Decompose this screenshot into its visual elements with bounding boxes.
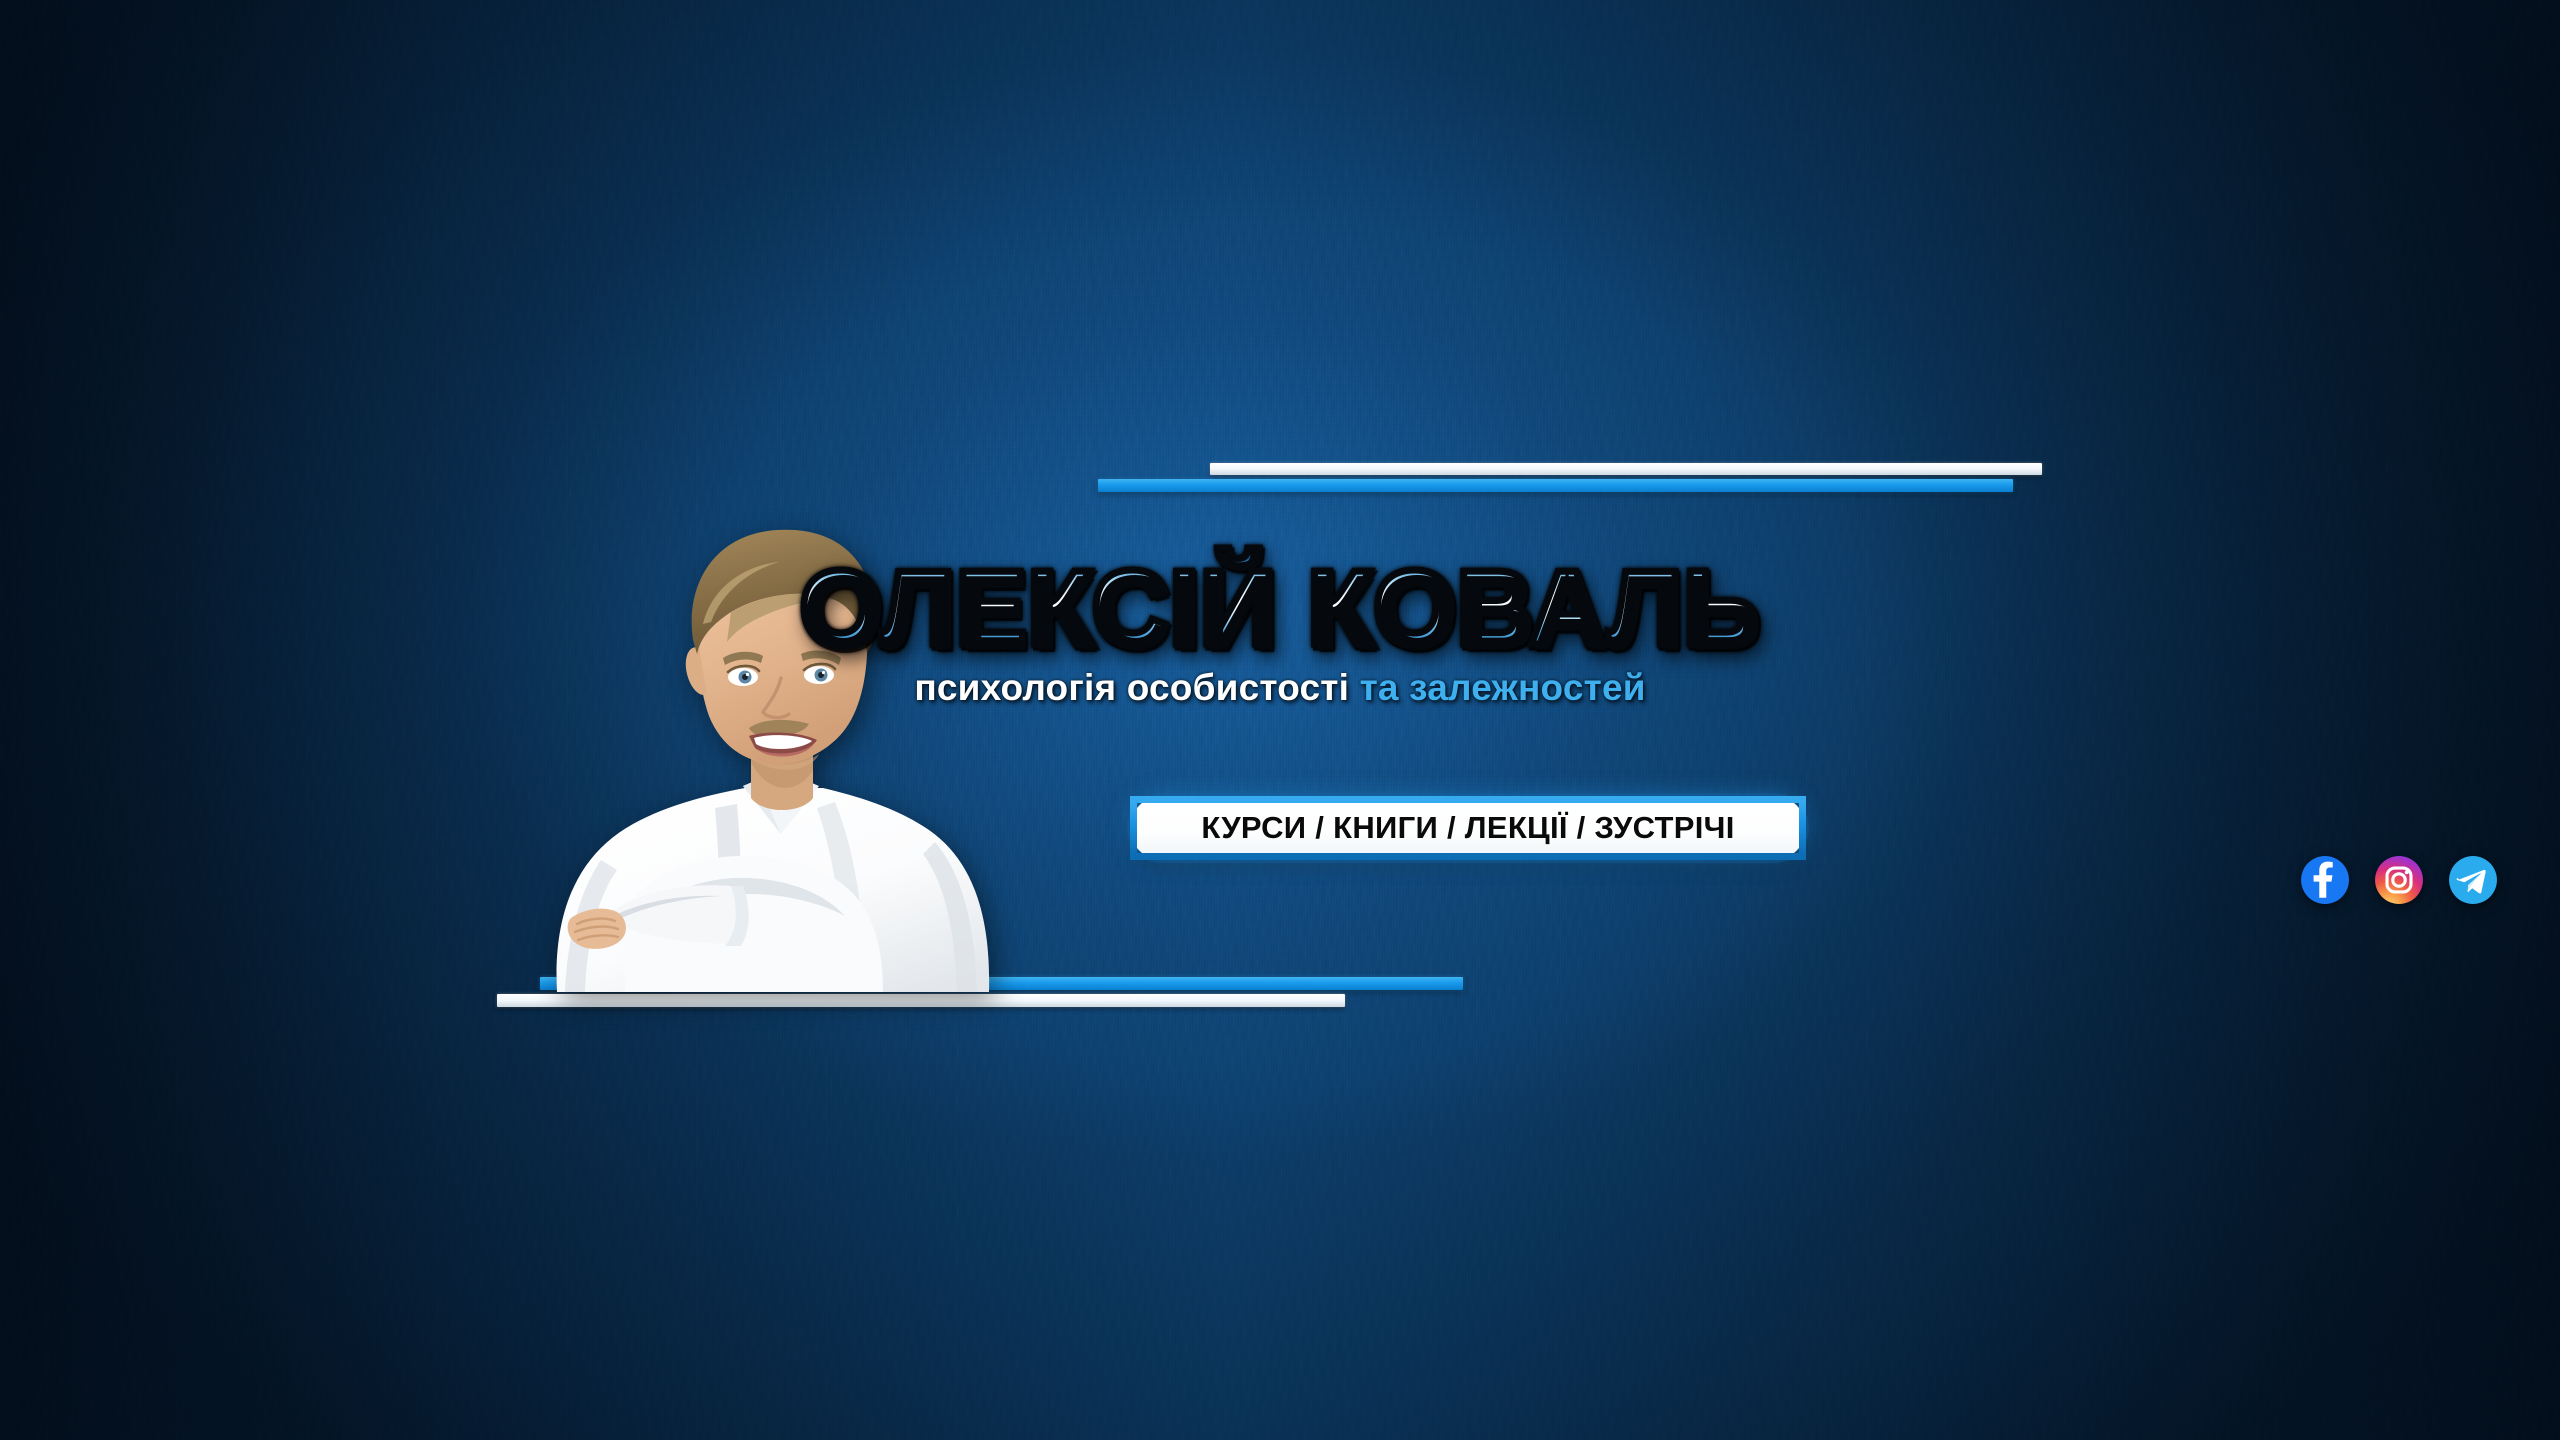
- facebook-icon[interactable]: [2300, 855, 2350, 905]
- decor-line-top-blue: [1098, 479, 2013, 492]
- cta-button-label: КУРСИ / КНИГИ / ЛЕКЦІЇ / ЗУСТРІЧІ: [1201, 810, 1734, 846]
- background-texture-fibers: [0, 0, 2560, 1440]
- portrait-illustration: [505, 512, 1055, 992]
- instagram-icon[interactable]: [2374, 855, 2424, 905]
- background-vignette: [0, 0, 2560, 1440]
- brand-title-block: ОЛЕКСІЙ КОВАЛЬ психологія особистості та…: [0, 555, 2560, 709]
- decor-line-top-white: [1210, 463, 2042, 475]
- background-texture-streaks: [0, 0, 2560, 1440]
- brand-subtitle: психологія особистості та залежностей: [0, 667, 2560, 709]
- background-texture-weave: [0, 0, 2560, 1440]
- cta-button[interactable]: КУРСИ / КНИГИ / ЛЕКЦІЇ / ЗУСТРІЧІ: [1130, 796, 1806, 860]
- brand-subtitle-accent: та залежностей: [1349, 667, 1646, 708]
- channel-banner: ОЛЕКСІЙ КОВАЛЬ психологія особистості та…: [0, 0, 2560, 1440]
- decor-line-bottom-white: [497, 994, 1345, 1007]
- telegram-icon[interactable]: [2448, 855, 2498, 905]
- social-links-bar: [2300, 855, 2498, 905]
